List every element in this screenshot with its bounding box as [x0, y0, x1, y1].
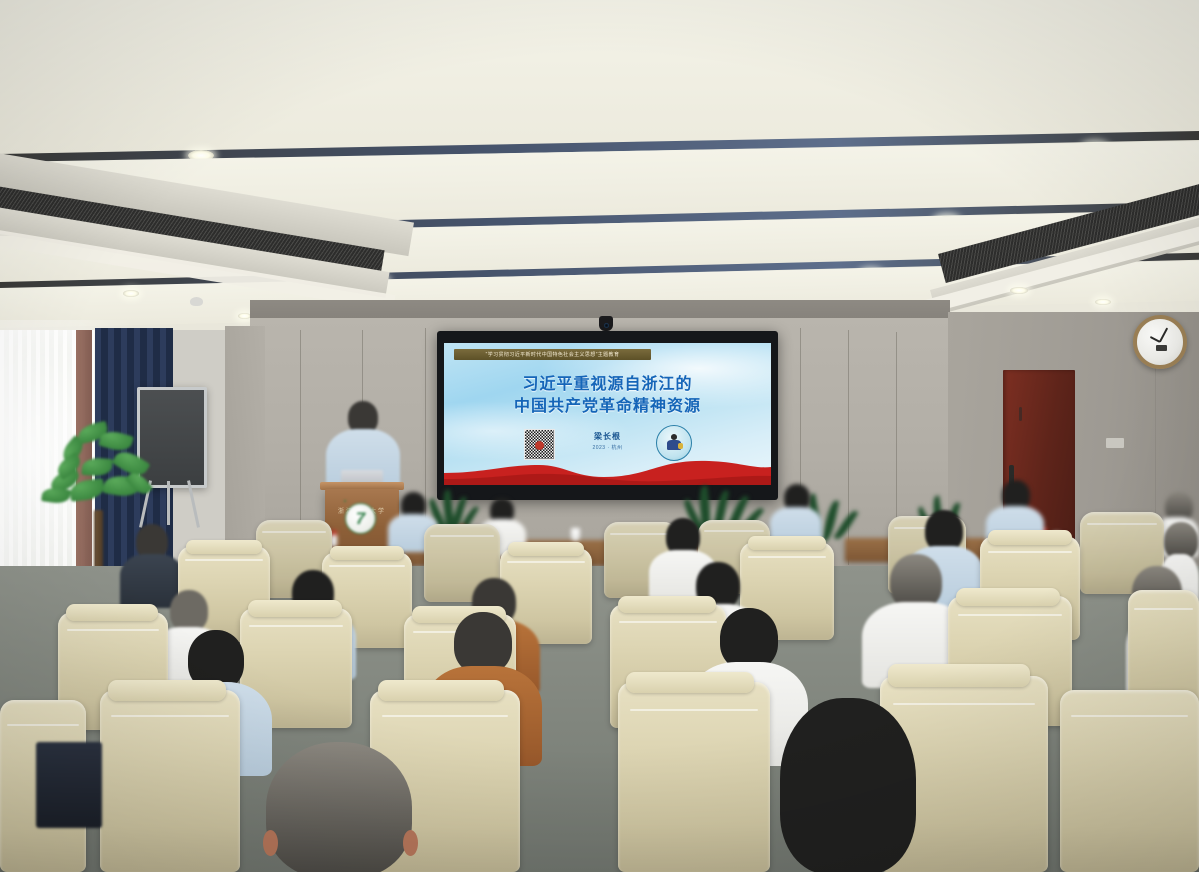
plant-leaf: [41, 486, 71, 505]
ceiling-panel-top: [0, 0, 1199, 156]
slide-banner: “学习贯彻习近平新时代中国特色社会主义思想”主题教育: [454, 349, 651, 360]
door-hinge: [1019, 407, 1022, 421]
attendee-head: [780, 698, 916, 872]
wall-clock: [1133, 315, 1187, 369]
downlight-7: [1010, 287, 1028, 294]
chair-headrest: [186, 540, 262, 554]
ribbon-svg: [444, 443, 771, 485]
attendee-head: [454, 612, 512, 674]
slide-title-line2: 中国共产党革命精神资源: [444, 396, 771, 418]
downlight-8: [1095, 299, 1111, 305]
clock-minute-hand: [1159, 328, 1168, 343]
attendee-head: [266, 742, 412, 872]
chair-headrest: [378, 680, 504, 701]
presenter-name: 梁长根: [444, 431, 771, 442]
projection-screen: “学习贯彻习近平新时代中国特色社会主义思想”主题教育 习近平重视源自浙江的 中国…: [444, 343, 771, 485]
attendee-head: [720, 608, 778, 670]
chair-r1-1[interactable]: [100, 690, 240, 872]
downlight-9: [123, 290, 139, 297]
attendee-foreground-left: [266, 742, 412, 872]
tea-cup: [571, 528, 580, 541]
ceiling-camera-above-screen: [599, 316, 613, 331]
chair-headrest: [330, 546, 404, 560]
attendee-foreground-right: [780, 698, 916, 872]
light-switch-plate[interactable]: [1106, 438, 1124, 448]
chair-headrest: [66, 604, 158, 621]
chair-headrest: [748, 536, 826, 550]
emblem-spacer: [344, 500, 346, 502]
chair-headrest: [108, 680, 226, 701]
attendee-far-2: [770, 484, 822, 544]
chair-r1-3[interactable]: [618, 682, 770, 872]
plant-leaf: [81, 457, 112, 477]
attendee-ear: [403, 830, 418, 856]
shoulder-bag: [36, 742, 102, 828]
board-stand-leg: [167, 481, 170, 525]
slide-banner-text: “学习贯彻习近平新时代中国特色社会主义思想”主题教育: [486, 351, 620, 358]
chair-headrest: [626, 672, 754, 693]
chair-headrest: [248, 600, 342, 617]
slide-title: 习近平重视源自浙江的 中国共产党革命精神资源: [444, 374, 771, 417]
chair-headrest: [956, 588, 1060, 606]
badge-figure-head: [671, 434, 677, 440]
chair-r1-5[interactable]: [1060, 690, 1199, 872]
attendee-ear: [263, 830, 278, 856]
clock-date-window: [1156, 345, 1167, 351]
slide-title-line1: 习近平重视源自浙江的: [444, 374, 771, 396]
plant-frond: [834, 508, 859, 541]
chair-headrest: [988, 530, 1072, 545]
chair-headrest: [508, 542, 584, 556]
slide-red-ribbon: [444, 443, 771, 485]
chair-headrest: [888, 664, 1030, 687]
attendee-head: [170, 590, 208, 632]
conference-room-photo: “学习贯彻习近平新时代中国特色社会主义思想”主题教育 习近平重视源自浙江的 中国…: [0, 0, 1199, 872]
podium-emblem-text: 7: [356, 510, 365, 527]
podium-front-emblem: 7: [345, 503, 376, 534]
ceiling-dome-camera: [190, 297, 203, 306]
